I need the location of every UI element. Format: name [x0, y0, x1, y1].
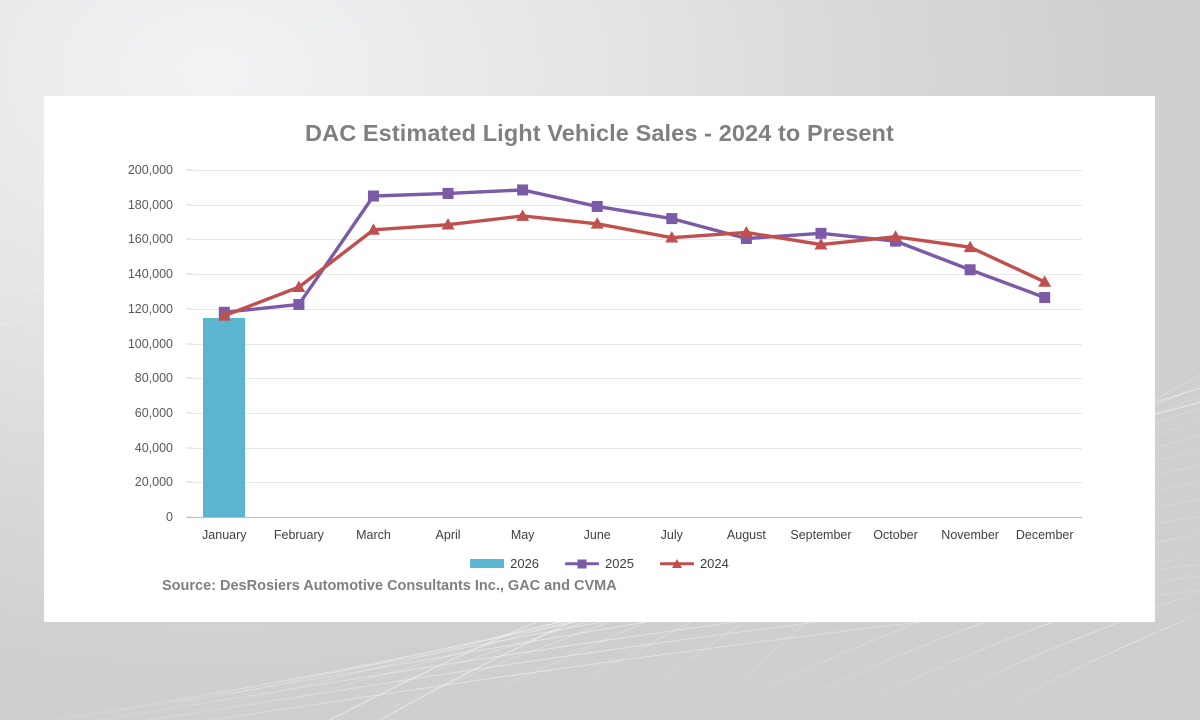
marker-2025-july	[666, 213, 677, 224]
y-axis-tick-label: 180,000	[128, 198, 173, 212]
y-axis-tick-label: 200,000	[128, 163, 173, 177]
legend-item-2026[interactable]: 2026	[470, 556, 539, 571]
x-axis-tick-label: December	[1016, 528, 1074, 542]
marker-2025-march	[368, 191, 379, 202]
x-axis-tick-label: November	[941, 528, 999, 542]
x-axis-tick-label: October	[873, 528, 917, 542]
marker-2025-november	[965, 264, 976, 275]
plot-area: 200,000180,000160,000140,000120,000100,0…	[44, 96, 1155, 622]
x-axis-tick-label: September	[790, 528, 851, 542]
x-axis-tick-label: April	[436, 528, 461, 542]
line-2024	[224, 216, 1044, 316]
x-axis-tick-label: July	[661, 528, 683, 542]
legend-square-marker-icon	[578, 559, 587, 568]
y-axis-tick-label: 140,000	[128, 267, 173, 281]
marker-2025-june	[592, 201, 603, 212]
x-axis: JanuaryFebruaryMarchAprilMayJuneJulyAugu…	[187, 528, 1082, 550]
y-axis-tick-label: 20,000	[135, 475, 173, 489]
y-axis-tick-label: 100,000	[128, 337, 173, 351]
legend-label: 2025	[605, 556, 634, 571]
axis-baseline	[187, 517, 1082, 518]
x-axis-tick-label: June	[584, 528, 611, 542]
x-axis-tick-label: May	[511, 528, 535, 542]
marker-2025-april	[443, 188, 454, 199]
marker-2025-december	[1039, 292, 1050, 303]
y-axis-tick-label: 120,000	[128, 302, 173, 316]
y-axis-tick-label: 80,000	[135, 371, 173, 385]
legend-label: 2024	[700, 556, 729, 571]
x-axis-tick-label: January	[202, 528, 246, 542]
marker-2025-september	[815, 228, 826, 239]
x-axis-tick-label: February	[274, 528, 324, 542]
x-axis-tick-label: March	[356, 528, 391, 542]
marker-2025-february	[293, 299, 304, 310]
marker-2025-may	[517, 184, 528, 195]
legend-swatch-line-icon	[565, 557, 599, 570]
legend-item-2024[interactable]: 2024	[660, 556, 729, 571]
legend-label: 2026	[510, 556, 539, 571]
legend-triangle-marker-icon	[672, 559, 682, 568]
chart-legend: 202620252024	[44, 556, 1155, 571]
source-note: Source: DesRosiers Automotive Consultant…	[162, 578, 617, 594]
y-axis-tick-label: 40,000	[135, 441, 173, 455]
x-axis-tick-label: August	[727, 528, 766, 542]
legend-item-2025[interactable]: 2025	[565, 556, 634, 571]
y-axis-tick-label: 0	[166, 510, 173, 524]
line-series-layer	[187, 170, 1082, 517]
legend-swatch-line-icon	[660, 557, 694, 570]
y-axis-tick-label: 160,000	[128, 232, 173, 246]
y-axis: 200,000180,000160,000140,000120,000100,0…	[94, 170, 179, 517]
chart-panel: DAC Estimated Light Vehicle Sales - 2024…	[44, 96, 1155, 622]
legend-swatch-bar-icon	[470, 559, 504, 568]
y-axis-tick-label: 60,000	[135, 406, 173, 420]
